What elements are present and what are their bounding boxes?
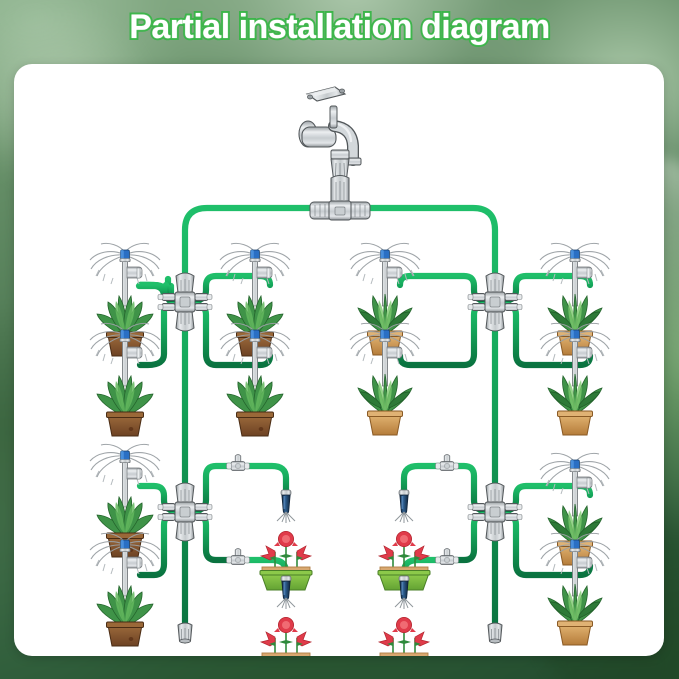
t-splitter[interactable] bbox=[310, 176, 370, 221]
potted-plant-upper-left-2 bbox=[90, 323, 160, 436]
barbed-tee-connector[interactable] bbox=[227, 549, 250, 565]
screenshot-root: Partial installation diagram bbox=[0, 0, 679, 679]
potted-plant-lower-left-2 bbox=[90, 533, 160, 646]
rose-trough-planter bbox=[378, 617, 430, 656]
green-main-hose-trunk bbox=[185, 208, 495, 636]
page-title: Partial installation diagram bbox=[0, 8, 679, 47]
barbed-tee-connector[interactable] bbox=[227, 455, 250, 471]
grass-plant-terracotta-pot bbox=[358, 374, 412, 435]
rose-planter-lower-left-top bbox=[260, 490, 312, 590]
rotating-sprinkler-head[interactable] bbox=[90, 444, 160, 507]
rotating-sprinkler-head[interactable] bbox=[90, 533, 160, 596]
drip-mister-nozzle[interactable] bbox=[277, 490, 295, 523]
irrigation-system-diagram bbox=[14, 64, 664, 656]
barbed-tee-connector[interactable] bbox=[436, 549, 459, 565]
diagram-card bbox=[14, 64, 664, 656]
potted-plant-lower-right-2 bbox=[540, 533, 610, 645]
rotating-sprinkler-head[interactable] bbox=[90, 243, 160, 306]
grass-plant-terracotta-pot bbox=[548, 584, 602, 645]
grass-plant-terracotta-pot bbox=[548, 374, 602, 435]
hose-lr-B bbox=[452, 515, 484, 560]
rotating-sprinkler-head[interactable] bbox=[220, 323, 290, 386]
hose-ll-D bbox=[196, 515, 238, 560]
potted-plant-upper-mid-2 bbox=[220, 323, 290, 436]
hose-lr-mister-1 bbox=[404, 466, 443, 500]
rose-planter-lower-right-top bbox=[378, 490, 430, 590]
rotating-sprinkler-head[interactable] bbox=[90, 323, 160, 386]
hose-end-cap-right[interactable] bbox=[488, 623, 502, 644]
rose-trough-planter bbox=[260, 617, 312, 656]
faucet-tap[interactable] bbox=[299, 87, 361, 165]
hose-end-cap-left[interactable] bbox=[178, 623, 192, 644]
barbed-tee-connector[interactable] bbox=[436, 455, 459, 471]
drip-mister-nozzle[interactable] bbox=[395, 490, 413, 523]
potted-plant-upper-right-2 bbox=[540, 323, 610, 435]
potted-plant-upper-mid-4 bbox=[350, 323, 420, 435]
hose-network bbox=[139, 182, 590, 636]
hose-ll-mister-1 bbox=[247, 466, 286, 500]
